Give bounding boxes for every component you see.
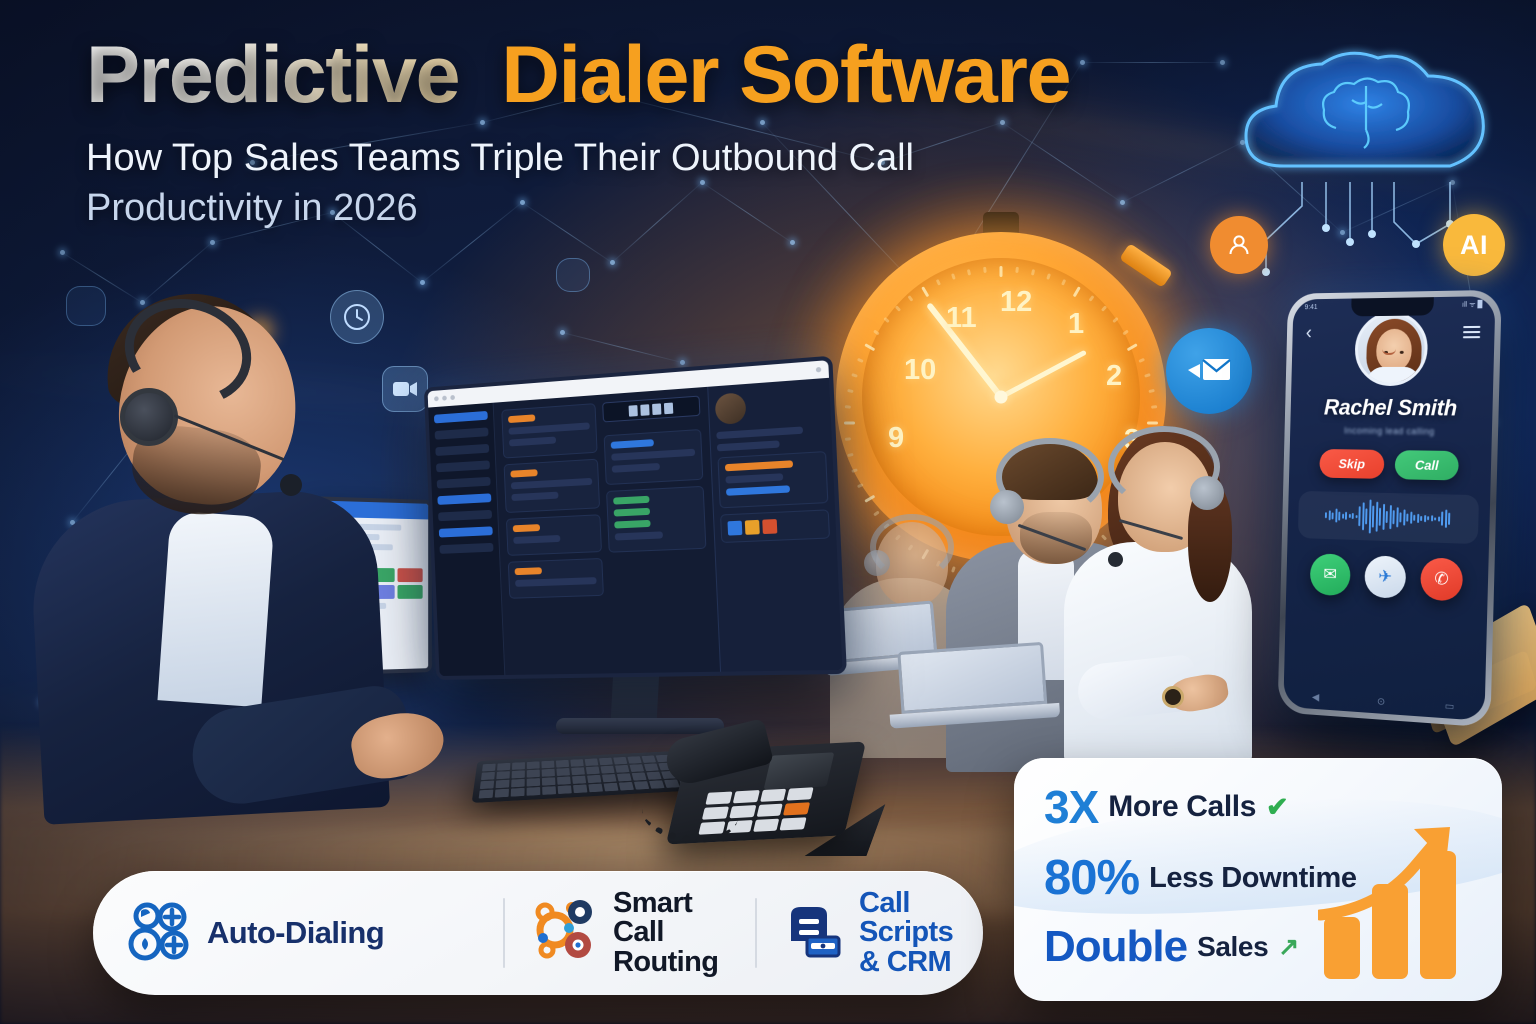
keyboard-key[interactable]	[527, 761, 540, 769]
queue-card[interactable]	[506, 514, 602, 556]
keyboard-key[interactable]	[511, 788, 525, 797]
waveform-bar	[1410, 512, 1412, 524]
check-icon: ✔	[1266, 792, 1289, 823]
clock-tick	[873, 330, 880, 336]
chart-trend-arrow	[1318, 819, 1480, 979]
clock-tick	[1112, 317, 1118, 323]
waveform-bar	[1325, 512, 1327, 518]
keyboard-key[interactable]	[570, 759, 583, 767]
call-transfer-button[interactable]: ✈	[1364, 555, 1406, 599]
subtitle: How Top Sales Teams Triple Their Outboun…	[86, 133, 1196, 233]
queue-card[interactable]	[501, 403, 597, 458]
clock-tick	[951, 273, 956, 280]
keyboard-key[interactable]	[573, 784, 587, 793]
waveform-bar	[1392, 510, 1394, 524]
stat-label: More Calls	[1108, 790, 1256, 824]
auto-dial-circles-icon	[127, 900, 191, 967]
call-timer	[602, 396, 701, 423]
keyboard-key[interactable]	[496, 771, 510, 779]
call-waveform	[1298, 491, 1479, 544]
feature-bar: Auto-Dialing Smart Call	[93, 871, 983, 995]
call-button[interactable]: Call	[1395, 450, 1459, 480]
clock-tick	[1046, 273, 1051, 280]
call-actions: Skip Call	[1289, 449, 1491, 482]
waveform-bar	[1448, 513, 1450, 525]
headset-mic	[280, 474, 302, 496]
contact-activity[interactable]	[717, 451, 828, 508]
clock-tick	[1144, 373, 1151, 378]
clock-tick	[847, 389, 853, 393]
mail-badge	[1166, 328, 1252, 414]
status-card[interactable]	[606, 486, 707, 553]
clock-numeral: 11	[946, 302, 977, 335]
clock-numeral: 10	[904, 354, 936, 387]
sidebar-item[interactable]	[435, 427, 489, 439]
headline-block: Predictive Dialer Software How Top Sales…	[86, 34, 1196, 233]
phone-key[interactable]	[787, 787, 814, 800]
waveform-bar	[1420, 515, 1422, 520]
sidebar-item[interactable]	[435, 444, 489, 456]
keyboard-key[interactable]	[572, 776, 586, 784]
keyboard-key[interactable]	[479, 790, 494, 799]
keyboard-key[interactable]	[481, 772, 495, 780]
waveform-bar	[1424, 515, 1426, 522]
waveform-bar	[1441, 512, 1443, 526]
feature-label-line2: & CRM	[859, 946, 951, 978]
keyboard-key[interactable]	[527, 770, 540, 778]
keyboard-key[interactable]	[527, 778, 540, 786]
call-controls: ✉ ✈ ✆	[1286, 552, 1488, 602]
waveform-bar	[1355, 515, 1357, 518]
title-part-1: Predictive	[86, 30, 459, 120]
keyboard-key[interactable]	[497, 763, 510, 771]
status-icons: ıll ᯤ ▉	[1462, 300, 1483, 309]
feature-label-line1: Call Scripts	[859, 887, 953, 949]
growth-bar-chart	[1318, 819, 1480, 979]
active-call-column	[602, 396, 712, 666]
keyboard-key[interactable]	[512, 770, 525, 778]
phone-key[interactable]	[756, 804, 783, 817]
keyboard-key[interactable]	[541, 761, 554, 769]
person-badge	[1210, 216, 1268, 274]
keyboard-key[interactable]	[495, 789, 509, 798]
waveform-bar	[1365, 508, 1367, 524]
keyboard-key[interactable]	[496, 780, 510, 788]
phone-key[interactable]	[780, 817, 807, 830]
trend-up-arrow-icon: ↗	[1278, 932, 1299, 962]
sidebar-item[interactable]	[437, 477, 491, 489]
page-title: Predictive Dialer Software	[86, 34, 1196, 117]
keyboard-key[interactable]	[542, 786, 556, 795]
waveform-bar	[1427, 516, 1429, 520]
agent-laptop	[897, 640, 1072, 736]
clock-tick	[857, 358, 864, 363]
contact-panel	[707, 378, 842, 672]
keyboard-key[interactable]	[615, 765, 629, 773]
script-document-icon	[783, 901, 843, 964]
waveform-bar	[1403, 509, 1405, 525]
waveform-bar	[1382, 504, 1385, 530]
phone-key[interactable]	[753, 819, 780, 832]
keyboard-key[interactable]	[542, 769, 555, 777]
feature-label-line1: Smart	[613, 887, 692, 919]
decor-hex	[556, 258, 590, 292]
call-center-agent-foreground	[28, 296, 400, 816]
feature-label: Smart Call Routing	[613, 889, 718, 978]
keyboard-key[interactable]	[556, 760, 569, 768]
waveform-bar	[1345, 512, 1347, 520]
keyboard-key[interactable]	[604, 783, 619, 792]
clock-tick	[1061, 279, 1066, 286]
avatar-clothing	[1367, 367, 1420, 383]
clock-tick	[1031, 269, 1035, 275]
keyboard-key[interactable]	[619, 782, 634, 791]
waveform-bar	[1431, 515, 1433, 521]
feature-label-line3: Routing	[613, 946, 718, 978]
network-hub-icon	[531, 898, 597, 967]
stat-value: 80%	[1044, 850, 1139, 906]
waveform-bar	[1444, 510, 1446, 528]
keyboard-key[interactable]	[527, 787, 541, 796]
keyboard-key[interactable]	[512, 762, 525, 770]
clock-tick	[908, 295, 914, 302]
phone-notch	[1351, 297, 1434, 316]
keyboard-key[interactable]	[586, 766, 600, 774]
end-call-button[interactable]: ✆	[1420, 557, 1463, 601]
stat-label: Sales	[1197, 931, 1268, 963]
keyboard-key[interactable]	[588, 784, 603, 793]
contact-avatar	[715, 392, 747, 425]
call-queue-column	[501, 403, 606, 667]
keyboard-key[interactable]	[599, 758, 613, 766]
phone-key[interactable]	[783, 802, 810, 815]
sidebar-item[interactable]	[436, 460, 490, 472]
avatar-eye	[1400, 351, 1404, 354]
poster-canvas: 1239101112	[0, 0, 1536, 1024]
clock-tick	[1089, 295, 1095, 302]
feature-label: Call Scripts & CRM	[859, 889, 957, 978]
dialer-dashboard-monitor[interactable]	[424, 356, 847, 680]
stat-value: Double	[1044, 922, 1187, 972]
keyboard-key[interactable]	[613, 757, 627, 764]
window-dot	[816, 367, 822, 373]
stat-value: 3X	[1044, 780, 1098, 834]
keyboard-key[interactable]	[557, 776, 571, 784]
clock-tick	[845, 405, 851, 409]
subtitle-line-2: Productivity in 2026	[86, 183, 1196, 233]
waveform-bar	[1348, 514, 1350, 518]
clock-tick	[1138, 358, 1145, 363]
ai-cloud	[1232, 44, 1500, 194]
headset-earcup	[120, 388, 178, 446]
ai-badge: AI	[1443, 214, 1505, 276]
clock-tick	[921, 286, 929, 297]
waveform-bar	[1413, 515, 1415, 521]
waveform-bar	[1399, 512, 1401, 522]
nav-back-icon[interactable]: ◀	[1312, 692, 1320, 703]
waveform-bar	[1389, 505, 1392, 529]
waveform-bar	[1328, 510, 1330, 520]
keyboard-key[interactable]	[482, 764, 496, 772]
keyboard-key[interactable]	[646, 772, 661, 780]
sidebar-item[interactable]	[434, 411, 488, 424]
sidebar-item[interactable]	[439, 526, 493, 537]
keyboard-key[interactable]	[644, 763, 659, 771]
clock-numeral: 2	[1106, 360, 1122, 393]
waveform-bar	[1332, 512, 1334, 519]
clock-tick	[1073, 286, 1081, 297]
feature-call-scripts-crm[interactable]: Call Scripts & CRM	[757, 889, 983, 978]
queue-card[interactable]	[504, 459, 600, 513]
phone-screen: 9:41 ıll ᯤ ▉ ‹ Rachel Smith Incoming lea…	[1283, 296, 1495, 721]
contact-name: Rachel Smith	[1290, 395, 1492, 422]
clock-tick	[936, 279, 941, 286]
waveform-bar	[1417, 513, 1419, 522]
stats-card: 3X More Calls ✔ 80% Less Downtime Double…	[1014, 758, 1502, 1001]
clock-tick	[967, 269, 971, 275]
keyboard-key[interactable]	[587, 775, 601, 783]
agent-shirt	[157, 511, 274, 708]
quick-actions[interactable]	[720, 509, 830, 543]
keyboard-key[interactable]	[627, 756, 641, 763]
clock-tick	[1101, 305, 1107, 311]
chevron-left-icon[interactable]: ‹	[1306, 324, 1312, 343]
waveform-bar	[1379, 508, 1381, 526]
hamburger-menu-icon[interactable]	[1463, 325, 1481, 337]
waveform-bar	[1396, 507, 1398, 527]
avatar	[1354, 311, 1428, 386]
sidebar-item[interactable]	[439, 543, 493, 554]
dashboard-body	[428, 378, 842, 676]
clock-numeral: 1	[1068, 308, 1084, 341]
sidebar-item[interactable]	[437, 493, 491, 505]
phone-display	[764, 752, 835, 789]
waveform-bar	[1375, 502, 1378, 532]
dashboard-main	[494, 387, 720, 675]
clock-tick	[851, 373, 858, 378]
clock-tick	[895, 305, 901, 311]
keyboard-key[interactable]	[558, 785, 572, 794]
keyboard-key[interactable]	[556, 768, 570, 776]
feature-auto-dialing[interactable]: Auto-Dialing	[93, 900, 503, 967]
keyboard-key[interactable]	[600, 766, 614, 774]
keyboard-key[interactable]	[571, 767, 585, 775]
hour-hand	[1000, 350, 1087, 399]
waveform-bar	[1338, 511, 1340, 520]
keyboard-key[interactable]	[585, 758, 599, 766]
contact-status: Incoming lead calling	[1290, 425, 1492, 437]
waveform-bar	[1362, 502, 1365, 530]
clock-tick	[983, 267, 987, 273]
status-time: 9:41	[1305, 304, 1318, 311]
dashboard-sidebar[interactable]	[428, 403, 505, 676]
waveform-bar	[1372, 506, 1375, 528]
keyboard-key[interactable]	[511, 779, 525, 787]
feature-label: Auto-Dialing	[207, 917, 384, 949]
keyboard-key[interactable]	[542, 777, 556, 785]
waveform-bar	[1386, 511, 1388, 523]
window-dot	[434, 396, 439, 401]
clock-tick	[1015, 267, 1019, 273]
window-dot	[450, 395, 455, 400]
waveform-bar	[1342, 513, 1344, 518]
keyboard-key[interactable]	[617, 773, 632, 781]
keyboard-key[interactable]	[602, 774, 617, 782]
phone-navbar: ◀ ⊙ ▭	[1283, 690, 1484, 715]
queue-card[interactable]	[508, 558, 604, 599]
title-part-2: Dialer Software	[501, 30, 1070, 120]
waveform-bar	[1406, 514, 1408, 522]
keyboard-key[interactable]	[632, 772, 647, 780]
dialer-mobile-app[interactable]: 9:41 ıll ᯤ ▉ ‹ Rachel Smith Incoming lea…	[1278, 290, 1502, 728]
waveform-bar	[1434, 517, 1436, 520]
clock-tick	[883, 317, 889, 323]
subtitle-line-1: How Top Sales Teams Triple Their Outboun…	[86, 137, 914, 179]
waveform-bar	[1335, 509, 1337, 523]
keyboard-key[interactable]	[630, 764, 645, 772]
clock-tick	[1000, 266, 1003, 277]
waveform-bar	[1352, 513, 1354, 519]
feature-label-line2: Call	[613, 916, 664, 948]
clock-tick	[864, 343, 875, 351]
nav-home-icon[interactable]: ⊙	[1377, 696, 1385, 708]
clock-tick	[1148, 389, 1154, 393]
clock-numeral: 12	[1000, 286, 1032, 319]
feature-smart-call-routing[interactable]: Smart Call Routing	[505, 889, 755, 978]
clock-tick	[1151, 405, 1157, 409]
stopwatch-center-pin	[995, 391, 1008, 404]
window-dot	[442, 396, 447, 401]
phone-key[interactable]	[760, 789, 787, 802]
voip-desk-phone[interactable]	[664, 712, 876, 864]
sidebar-item[interactable]	[438, 510, 492, 521]
clock-tick	[1127, 343, 1138, 351]
skip-button[interactable]: Skip	[1319, 449, 1385, 479]
keyboard-key[interactable]	[642, 755, 656, 762]
waveform-bar	[1358, 506, 1360, 526]
script-card[interactable]	[603, 429, 703, 485]
message-button[interactable]: ✉	[1310, 553, 1351, 596]
nav-recents-icon[interactable]: ▭	[1445, 701, 1455, 713]
waveform-bar	[1368, 500, 1371, 534]
clock-tick	[1122, 330, 1129, 336]
keyboard-key[interactable]	[480, 781, 494, 789]
waveform-bar	[1438, 516, 1440, 521]
